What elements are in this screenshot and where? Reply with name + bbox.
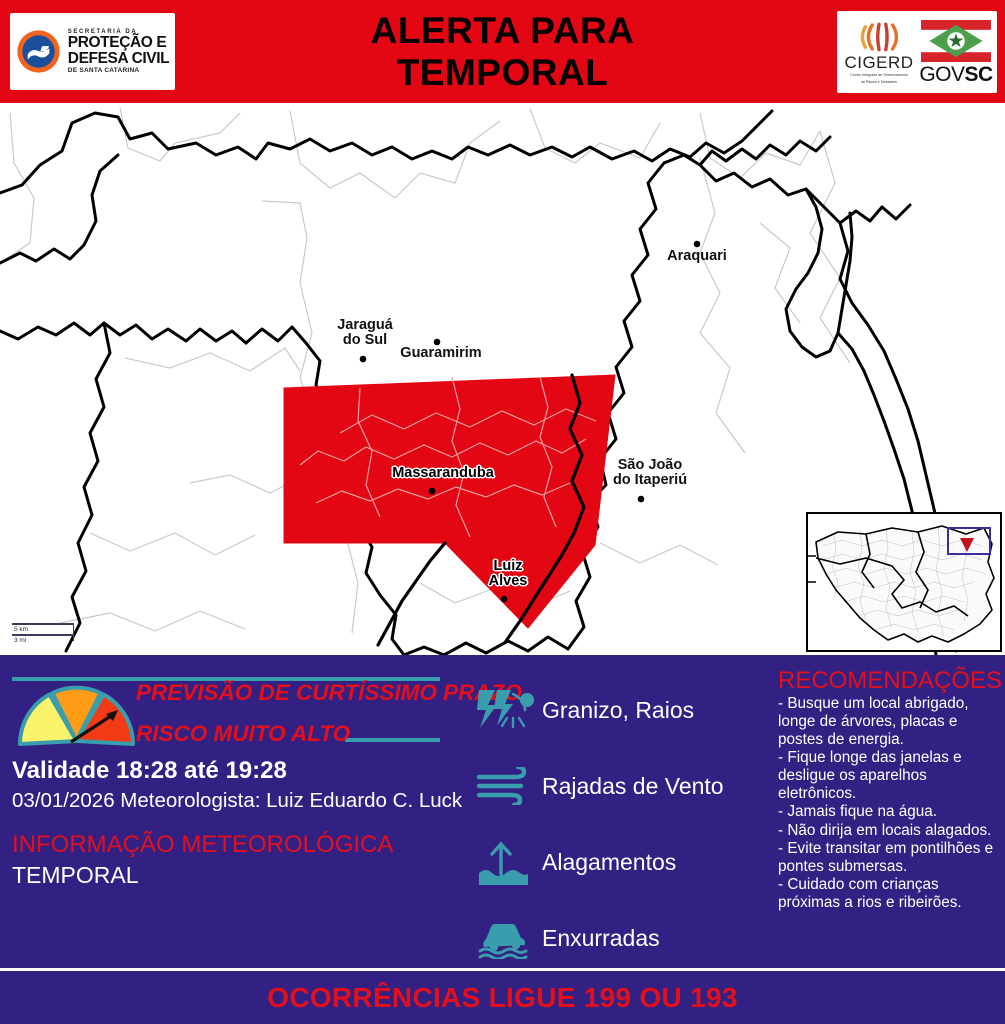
recommendation-item: - Evite transitar em pontilhões e pontes… [778,840,1000,876]
header-banner: SECRETARIA DA PROTEÇÃO E DEFESA CIVIL DE… [0,0,1005,103]
map-scale-bar: 5 km 3 mi [12,623,74,645]
recommendation-item: - Fique longe das janelas e desligue os … [778,749,1000,803]
recommendation-item: - Busque um local abrigado, longe de árv… [778,695,1000,749]
defesa-civil-wordmark: SECRETARIA DA PROTEÇÃO E DEFESA CIVIL DE… [68,29,169,74]
emergency-footer: OCORRÊNCIAS LIGUE 199 OU 193 [0,968,1005,1024]
flooding-icon [470,839,542,885]
validity-label: Validade 18:28 até 19:28 [12,757,287,785]
recommendation-item: - Cuidado com crianças próximas a rios e… [778,876,1000,912]
risk-level-label: RISCO MUITO ALTO [136,721,350,747]
state-locator-inset [806,512,1002,652]
cigerd-subtitle-line2: de Riscos e Desastres [861,80,897,85]
hazard-item-flooding: Alagamentos [470,824,760,900]
dc-line1-label: PROTEÇÃO E [68,35,169,51]
dc-line2-label: DEFESA CIVIL [68,51,169,67]
cigerd-waves-icon [853,20,905,54]
alert-map[interactable]: Araquari Jaraguá do Sul Guaramirim Massa… [0,103,1005,655]
defesa-civil-logo: SECRETARIA DA PROTEÇÃO E DEFESA CIVIL DE… [10,13,175,90]
flash-flood-car-icon [470,917,542,959]
recommendation-item: - Jamais fique na água. [778,803,1000,821]
cigerd-name-label: CIGERD [844,54,913,71]
divider-risk [345,738,440,742]
hazard-label-2: Alagamentos [542,849,676,876]
title-line-2: TEMPORAL [371,52,635,94]
santa-catarina-inset-map [808,514,1000,650]
recommendations-title: RECOMENDAÇÕES [778,668,1000,693]
scale-km-label: 5 km [12,625,74,634]
hazard-item-wind: Rajadas de Vento [470,748,760,824]
forecast-label: PREVISÃO DE CURTÍSSIMO PRAZO [136,680,522,706]
gov-sc-wordmark: GOVSC [919,64,992,85]
risk-gauge [14,676,139,748]
info-panel: PREVISÃO DE CURTÍSSIMO PRAZO RISCO MUITO… [0,655,1005,968]
partner-logos: CIGERD Centro Integrado de Gerenciamento… [837,11,997,93]
hazard-label-1: Rajadas de Vento [542,773,724,800]
page-title: ALERTA PARA TEMPORAL [371,10,635,94]
hazard-item-flash-flood: Enxurradas [470,900,760,976]
hazard-list: Granizo, Raios Rajadas de Vento [470,672,760,976]
defesa-civil-emblem-icon [16,29,61,74]
hazard-item-hail-lightning: Granizo, Raios [470,672,760,748]
cigerd-logo: CIGERD Centro Integrado de Gerenciamento… [841,20,917,84]
meteo-info-value: TEMPORAL [12,862,139,889]
emergency-phone-label: OCORRÊNCIAS LIGUE 199 OU 193 [267,982,738,1014]
cigerd-subtitle-line1: Centro Integrado de Gerenciamento [850,73,908,78]
hazard-label-3: Enxurradas [542,925,660,952]
gov-sc-logo: GOVSC [919,20,993,85]
hazard-label-0: Granizo, Raios [542,697,694,724]
scale-mi-label: 3 mi [12,636,74,645]
meteorologist-label: 03/01/2026 Meteorologista: Luiz Eduardo … [12,789,462,813]
hail-lightning-icon [470,688,542,732]
alert-poster: SECRETARIA DA PROTEÇÃO E DEFESA CIVIL DE… [0,0,1005,1024]
recommendations-list: - Busque um local abrigado, longe de árv… [778,695,1000,912]
santa-catarina-flag-icon [921,20,991,62]
scale-tick [73,623,74,641]
meteo-info-title: INFORMAÇÃO METEOROLÓGICA [12,831,393,859]
title-line-1: ALERTA PARA [371,10,635,52]
dc-state-label: DE SANTA CATARINA [68,68,169,75]
wind-gust-icon [470,767,542,805]
recommendation-item: - Não dirija em locais alagados. [778,822,1000,840]
recommendations-panel: RECOMENDAÇÕES - Busque um local abrigado… [778,668,1000,912]
